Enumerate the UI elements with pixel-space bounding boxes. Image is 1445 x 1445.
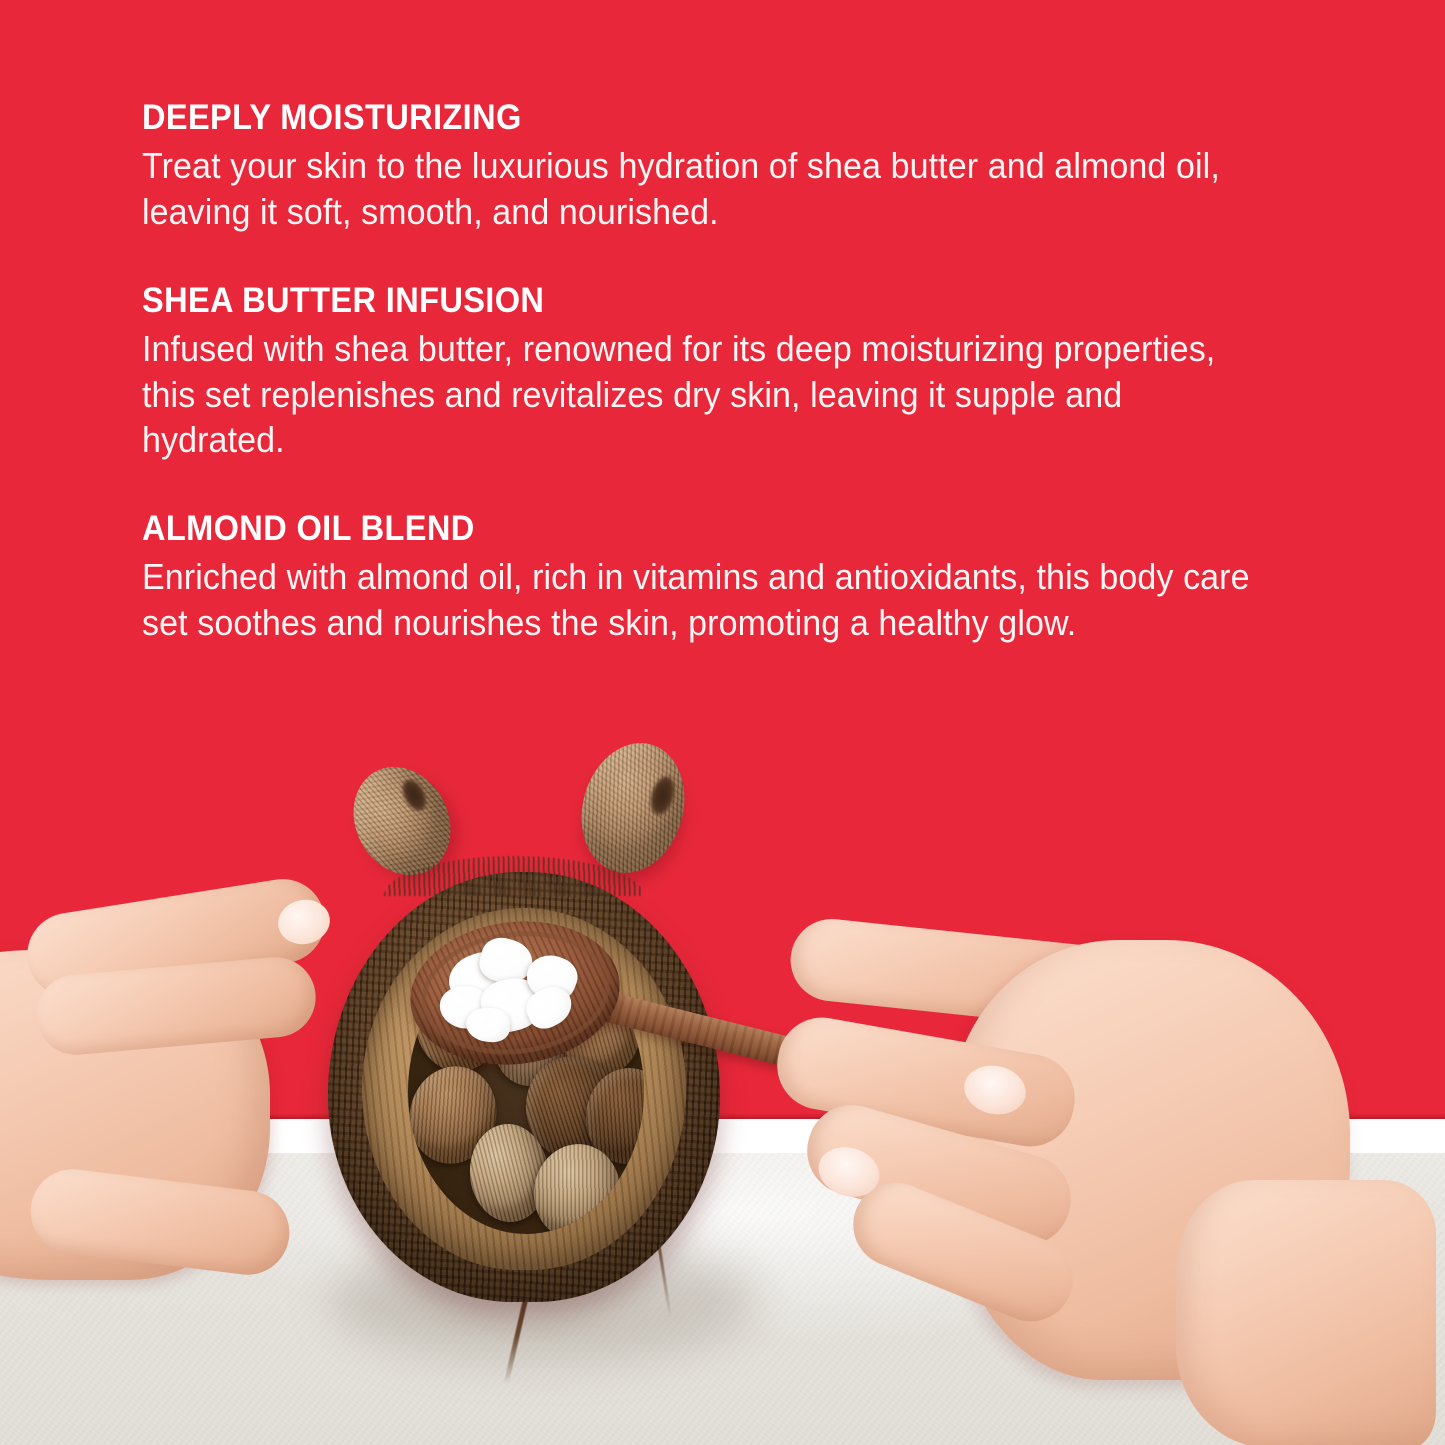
feature-deeply-moisturizing: DEEPLY MOISTURIZING Treat your skin to t…	[142, 98, 1332, 235]
right-hand-holding-spoon	[790, 880, 1430, 1445]
feature-shea-butter-infusion: SHEA BUTTER INFUSION Infused with shea b…	[142, 281, 1332, 463]
feature-body: Infused with shea butter, renowned for i…	[142, 326, 1267, 463]
product-feature-panel: DEEPLY MOISTURIZING Treat your skin to t…	[0, 0, 1445, 1445]
product-photo	[0, 700, 1445, 1445]
feature-title: SHEA BUTTER INFUSION	[142, 281, 1249, 320]
right-hand-wrist	[1176, 1180, 1436, 1445]
feature-title: DEEPLY MOISTURIZING	[142, 98, 1249, 137]
shea-butter-scoop	[426, 924, 608, 1056]
feature-body: Enriched with almond oil, rich in vitami…	[142, 554, 1267, 645]
feature-copy-block: DEEPLY MOISTURIZING Treat your skin to t…	[142, 98, 1332, 646]
feature-body: Treat your skin to the luxurious hydrati…	[142, 143, 1267, 234]
feature-almond-oil-blend: ALMOND OIL BLEND Enriched with almond oi…	[142, 509, 1332, 646]
feature-title: ALMOND OIL BLEND	[142, 509, 1249, 548]
butter-blob	[465, 1006, 512, 1044]
